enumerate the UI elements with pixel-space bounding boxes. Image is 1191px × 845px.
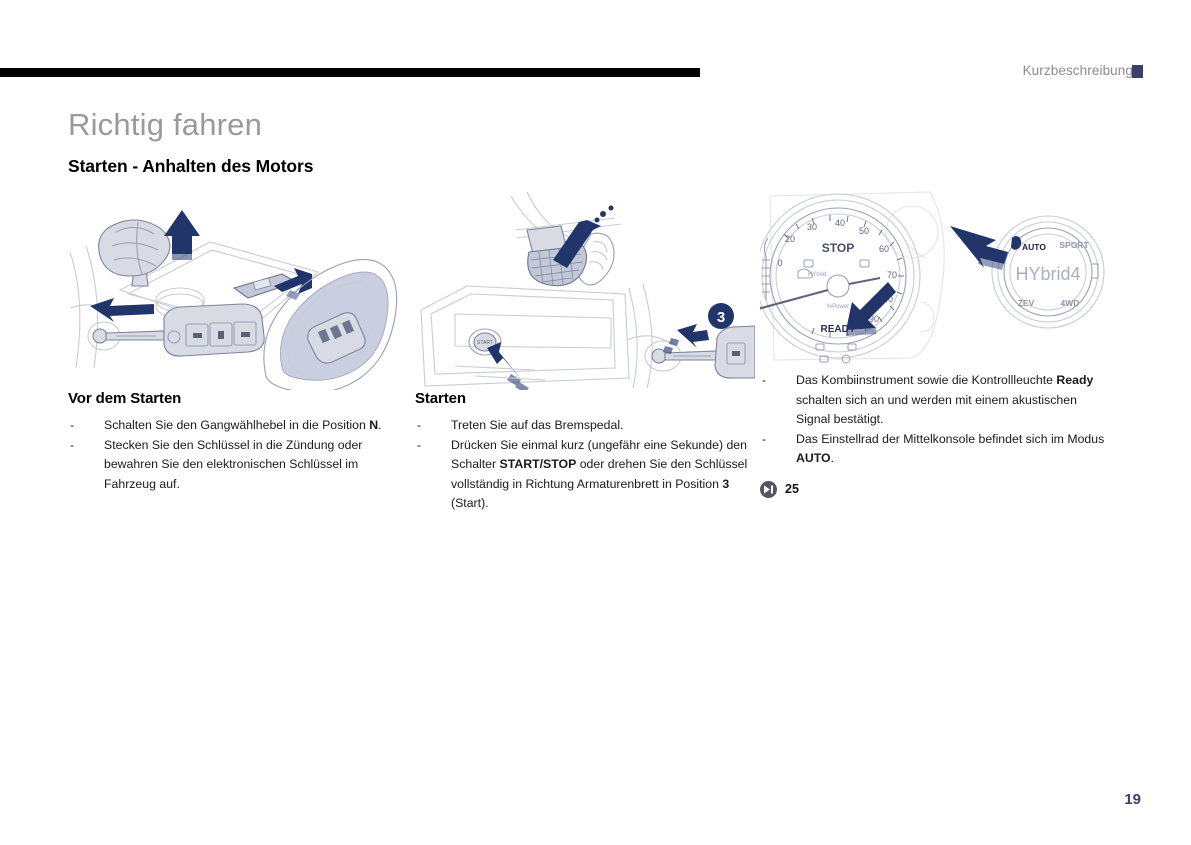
instrument-cluster-illustration: 0 20 30 40 50 60 70 80 90 STOP READY: [760, 190, 1105, 365]
skip-next-icon: [760, 481, 777, 498]
list-item-text: Schalten Sie den Gangwählhebel in die Po…: [104, 418, 382, 432]
list-item: - Schalten Sie den Gangwählhebel in die …: [68, 416, 413, 436]
bullet-dash: -: [70, 416, 74, 436]
bullet-dash: -: [70, 436, 74, 456]
header-rule: [0, 68, 700, 77]
page-reference-number: 25: [785, 482, 799, 496]
list-item: - Das Kombiinstrument sowie die Kontroll…: [760, 371, 1105, 430]
list-item-text: Das Einstellrad der Mittelkonsole befind…: [796, 432, 1104, 466]
list-item: - Drücken Sie einmal kurz (ungefähr eine…: [415, 436, 755, 514]
svg-text:START: START: [477, 340, 493, 346]
list-item-text: Stecken Sie den Schlüssel in die Zündung…: [104, 438, 362, 491]
dial-4wd-label: 4WD: [1061, 298, 1080, 308]
column-starten: START: [415, 190, 755, 514]
brake-pedal-start-button-illustration: START: [415, 190, 755, 390]
bullet-dash: -: [762, 430, 766, 450]
section-label: Kurzbeschreibung: [1023, 63, 1133, 78]
list-item-text: Das Kombiinstrument sowie die Kontrollle…: [796, 373, 1093, 426]
dial-hybrid4-label: HYbrid4: [1015, 264, 1080, 284]
badge-3-label: 3: [717, 309, 725, 326]
column-heading: Vor dem Starten: [68, 390, 413, 407]
svg-text:50: 50: [859, 226, 869, 236]
list-item: - Stecken Sie den Schlüssel in die Zündu…: [68, 436, 413, 495]
bullet-list: - Treten Sie auf das Bremspedal. - Drück…: [415, 416, 755, 514]
bullet-dash: -: [762, 371, 766, 391]
svg-text:0: 0: [777, 258, 782, 268]
page-reference[interactable]: 25: [760, 481, 1105, 498]
svg-text:%Power: %Power: [827, 304, 849, 310]
dial-auto-label: AUTO: [1022, 242, 1046, 252]
svg-text:HYbrid: HYbrid: [808, 272, 826, 278]
svg-text:20: 20: [785, 234, 795, 244]
list-item: - Das Einstellrad der Mittelkonsole befi…: [760, 430, 1105, 469]
page-subtitle: Starten - Anhalten des Motors: [68, 156, 313, 177]
svg-text:70: 70: [887, 270, 897, 280]
svg-text:60: 60: [879, 244, 889, 254]
bullet-dash: -: [417, 436, 421, 456]
page-title: Richtig fahren: [68, 107, 262, 143]
svg-text:30: 30: [807, 222, 817, 232]
dial-zev-label: ZEV: [1018, 298, 1035, 308]
column-ready-status: 0 20 30 40 50 60 70 80 90 STOP READY: [760, 190, 1105, 498]
list-item: - Treten Sie auf das Bremspedal.: [415, 416, 755, 436]
section-tab-marker: [1132, 65, 1143, 78]
bullet-list: - Schalten Sie den Gangwählhebel in die …: [68, 416, 413, 494]
list-item-text: Drücken Sie einmal kurz (ungefähr eine S…: [451, 438, 747, 511]
gear-selector-and-key-illustration: [68, 190, 413, 390]
bullet-list: - Das Kombiinstrument sowie die Kontroll…: [760, 371, 1105, 469]
column-heading: Starten: [415, 390, 755, 407]
list-item-text: Treten Sie auf das Bremspedal.: [451, 418, 623, 432]
dial-sport-label: SPORT: [1059, 240, 1089, 250]
bullet-dash: -: [417, 416, 421, 436]
page-number: 19: [1124, 791, 1141, 808]
cluster-stop-label: STOP: [822, 241, 854, 255]
svg-text:40: 40: [835, 218, 845, 228]
column-vor-dem-starten: Vor dem Starten - Schalten Sie den Gangw…: [68, 190, 413, 494]
